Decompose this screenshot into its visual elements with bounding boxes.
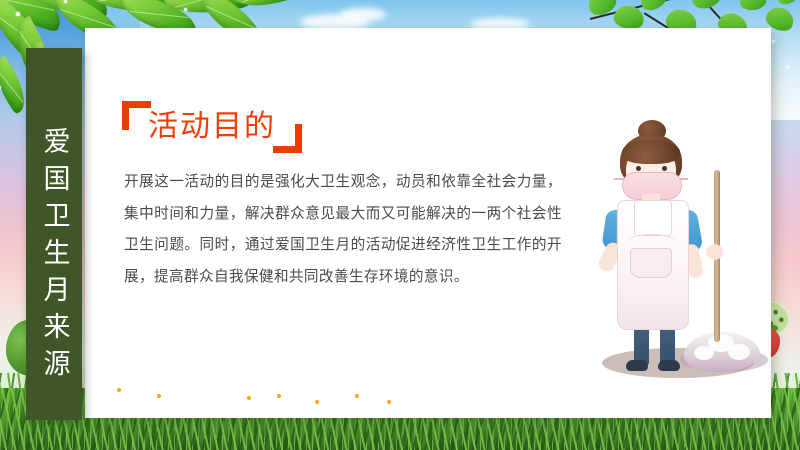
dewdrop-icon bbox=[16, 12, 20, 16]
eye-right bbox=[662, 166, 667, 171]
shoe-right bbox=[658, 360, 680, 371]
dewdrop-icon bbox=[184, 8, 187, 11]
section-heading: 活动目的 bbox=[122, 101, 302, 153]
corner-bracket-top-left-icon bbox=[122, 101, 151, 130]
slide-canvas: ✳ ✳ bbox=[0, 0, 800, 450]
sparkle-icon: ✳ bbox=[784, 64, 791, 72]
mop-strand bbox=[694, 346, 714, 360]
cleaning-worker-illustration bbox=[588, 118, 778, 390]
cloud-icon bbox=[340, 8, 386, 21]
apron-bib bbox=[634, 200, 672, 236]
corner-bracket-bottom-right-icon bbox=[273, 124, 302, 153]
body-paragraph: 开展这一活动的目的是强化大卫生观念，动员和依靠全社会力量，集中时间和力量，解决群… bbox=[124, 167, 562, 293]
hair-fringe bbox=[622, 140, 680, 164]
dewdrop-icon bbox=[772, 40, 775, 43]
leaf-icon bbox=[739, 0, 768, 12]
apron-pocket bbox=[630, 248, 672, 278]
hand-gripping-mop bbox=[706, 244, 723, 260]
eye-left bbox=[636, 166, 641, 171]
shoe-left bbox=[626, 360, 648, 371]
leaf-icon bbox=[690, 0, 723, 11]
sidebar-vertical-title: 爱国卫生月来源 bbox=[41, 127, 68, 386]
sidebar-vertical-banner: 爱国卫生月来源 bbox=[26, 48, 82, 420]
mop-strand bbox=[728, 344, 750, 360]
dewdrop-icon bbox=[64, 0, 67, 3]
